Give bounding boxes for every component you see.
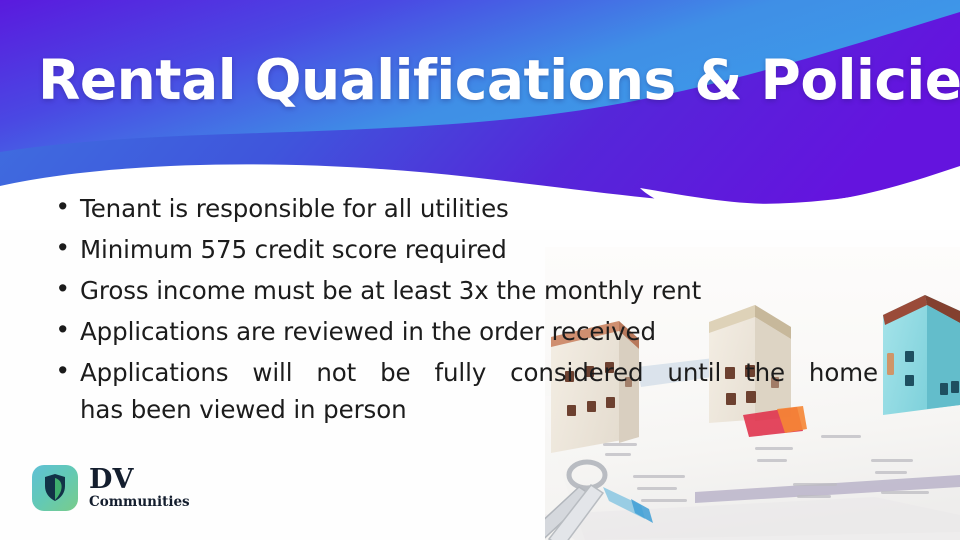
logo-name: DV [89, 466, 190, 493]
bullet-text-line-1: Applications will not be fully considere… [80, 354, 878, 391]
page-title: Rental Qualifications & Policies [38, 52, 960, 110]
bullet-icon: • [58, 231, 80, 264]
shield-leaf-glyph [32, 465, 78, 511]
bullet-icon: • [58, 354, 80, 387]
bullet-text: Applications are reviewed in the order r… [80, 313, 878, 350]
bullet-icon: • [58, 190, 80, 223]
list-item: • Applications are reviewed in the order… [58, 313, 878, 350]
bullet-text: Minimum 575 credit score required [80, 231, 878, 268]
brand-logo[interactable]: DV Communities [32, 465, 190, 511]
bullet-text: Tenant is responsible for all utilities [80, 190, 878, 227]
bullet-list: • Tenant is responsible for all utilitie… [58, 190, 878, 432]
house-right [883, 295, 960, 415]
bullet-icon: • [58, 313, 80, 346]
shield-leaf-icon [32, 465, 78, 511]
logo-text-block: DV Communities [89, 466, 190, 510]
bullet-icon: • [58, 272, 80, 305]
bullet-text: Gross income must be at least 3x the mon… [80, 272, 878, 309]
list-item: • Tenant is responsible for all utilitie… [58, 190, 878, 227]
bullet-text: Applications will not be fully considere… [80, 354, 878, 428]
list-item: • Gross income must be at least 3x the m… [58, 272, 878, 309]
slide-canvas: Rental Qualifications & Policies [0, 0, 960, 540]
list-item: • Minimum 575 credit score required [58, 231, 878, 268]
bullet-text-line-2: has been viewed in person [80, 391, 878, 428]
list-item: • Applications will not be fully conside… [58, 354, 878, 428]
logo-subtitle: Communities [89, 496, 190, 510]
